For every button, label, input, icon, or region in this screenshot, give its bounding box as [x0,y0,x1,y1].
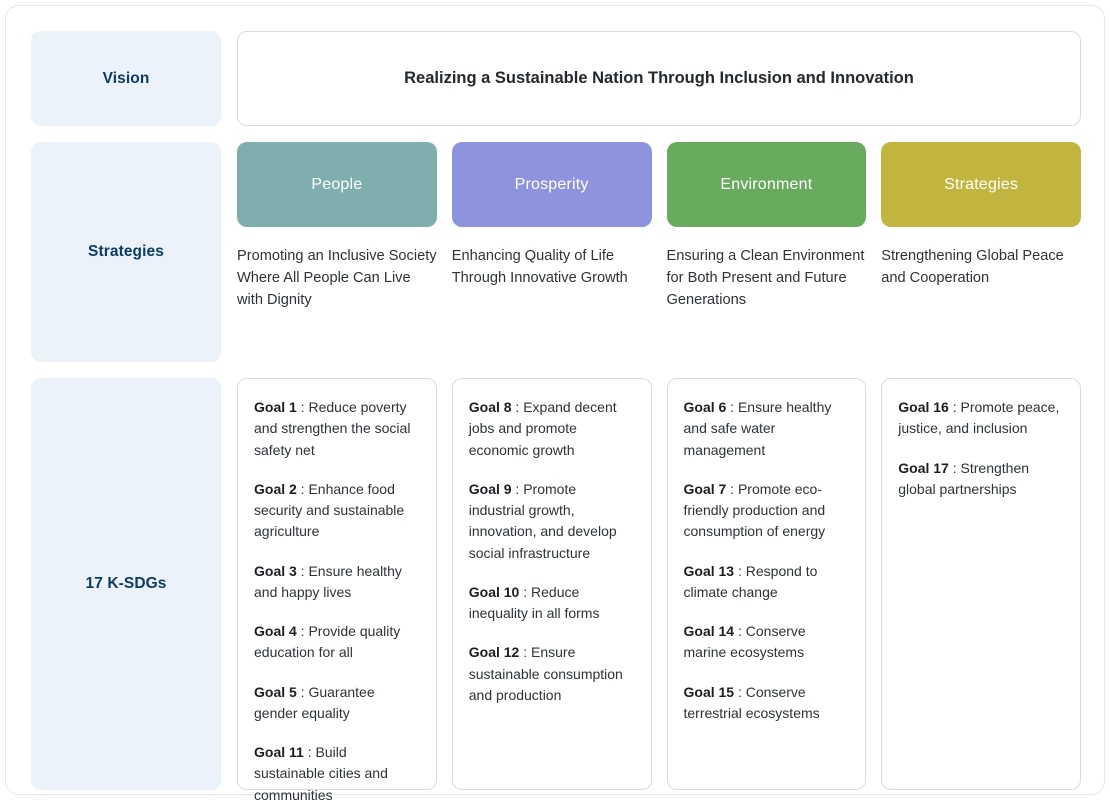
goals-row: 17 K-SDGs Goal 1 : Reduce poverty and st… [31,378,1081,790]
strategy-pill-prosperity[interactable]: Prosperity [452,142,652,227]
goal-separator: : [297,481,309,497]
goal-separator: : [297,623,309,639]
strategy-column-prosperity: Prosperity Enhancing Quality of Life Thr… [452,142,652,362]
strategies-row-body: People Promoting an Inclusive Society Wh… [237,142,1081,362]
goal-separator: : [734,563,746,579]
strategy-pill-people[interactable]: People [237,142,437,227]
goal-item: Goal 6 : Ensure healthy and safe water m… [684,397,850,461]
goal-item: Goal 14 : Conserve marine ecosystems [684,621,850,664]
goal-separator: : [297,399,309,415]
vision-statement-card: Realizing a Sustainable Nation Through I… [237,31,1081,126]
goal-separator: : [726,481,738,497]
goal-separator: : [304,744,316,760]
goal-number: Goal 6 [684,399,727,415]
goal-item: Goal 12 : Ensure sustainable consumption… [469,642,635,706]
strategy-pill-strategies[interactable]: Strategies [881,142,1081,227]
goal-item: Goal 4 : Provide quality education for a… [254,621,420,664]
goal-item: Goal 2 : Enhance food security and susta… [254,479,420,543]
goal-number: Goal 8 [469,399,512,415]
goal-item: Goal 3 : Ensure healthy and happy lives [254,561,420,604]
goal-separator: : [949,460,961,476]
goal-item: Goal 17 : Strengthen global partnerships [898,458,1064,501]
goal-card-environment: Goal 6 : Ensure healthy and safe water m… [667,378,867,790]
goal-item: Goal 15 : Conserve terrestrial ecosystem… [684,682,850,725]
goal-number: Goal 11 [254,744,304,760]
goal-number: Goal 2 [254,481,297,497]
goal-separator: : [726,399,738,415]
goal-separator: : [512,399,524,415]
vision-row: Vision Realizing a Sustainable Nation Th… [31,31,1081,126]
goal-number: Goal 13 [684,563,735,579]
goal-item: Goal 7 : Promote eco-friendly production… [684,479,850,543]
goal-columns: Goal 1 : Reduce poverty and strengthen t… [237,378,1081,790]
goal-item: Goal 10 : Reduce inequality in all forms [469,582,635,625]
goals-row-label: 17 K-SDGs [31,378,221,790]
goal-separator: : [297,684,309,700]
framework-card: Vision Realizing a Sustainable Nation Th… [5,5,1105,795]
goal-item: Goal 11 : Build sustainable cities and c… [254,742,420,806]
goals-row-body: Goal 1 : Reduce poverty and strengthen t… [237,378,1081,790]
goal-item: Goal 16 : Promote peace, justice, and in… [898,397,1064,440]
goal-number: Goal 14 [684,623,735,639]
goal-separator: : [734,684,746,700]
goal-separator: : [297,563,309,579]
strategies-row-label: Strategies [31,142,221,362]
goal-item: Goal 5 : Guarantee gender equality [254,682,420,725]
framework-grid: Vision Realizing a Sustainable Nation Th… [31,31,1081,790]
goal-number: Goal 12 [469,644,520,660]
goal-item: Goal 13 : Respond to climate change [684,561,850,604]
goal-number: Goal 17 [898,460,949,476]
vision-row-label: Vision [31,31,221,126]
goal-separator: : [734,623,746,639]
strategy-description-environment: Ensuring a Clean Environment for Both Pr… [667,245,867,312]
goal-number: Goal 5 [254,684,297,700]
goal-separator: : [512,481,524,497]
strategy-column-people: People Promoting an Inclusive Society Wh… [237,142,437,362]
strategies-row: Strategies People Promoting an Inclusive… [31,142,1081,362]
goal-number: Goal 10 [469,584,520,600]
goal-item: Goal 9 : Promote industrial growth, inno… [469,479,635,564]
strategy-column-strategies: Strategies Strengthening Global Peace an… [881,142,1081,362]
goal-card-prosperity: Goal 8 : Expand decent jobs and promote … [452,378,652,790]
strategy-description-strategies: Strengthening Global Peace and Cooperati… [881,245,1081,289]
goal-number: Goal 15 [684,684,735,700]
goal-number: Goal 1 [254,399,297,415]
goal-card-people: Goal 1 : Reduce poverty and strengthen t… [237,378,437,790]
goal-item: Goal 1 : Reduce poverty and strengthen t… [254,397,420,461]
goal-separator: : [519,644,531,660]
strategy-description-people: Promoting an Inclusive Society Where All… [237,245,437,312]
goal-card-strategies: Goal 16 : Promote peace, justice, and in… [881,378,1081,790]
goal-number: Goal 4 [254,623,297,639]
strategy-description-prosperity: Enhancing Quality of Life Through Innova… [452,245,652,289]
goal-number: Goal 16 [898,399,949,415]
vision-row-body: Realizing a Sustainable Nation Through I… [237,31,1081,126]
strategy-pill-environment[interactable]: Environment [667,142,867,227]
vision-statement-text: Realizing a Sustainable Nation Through I… [404,69,914,88]
goal-number: Goal 3 [254,563,297,579]
goal-number: Goal 7 [684,481,727,497]
strategy-columns: People Promoting an Inclusive Society Wh… [237,142,1081,362]
goal-separator: : [949,399,961,415]
goal-number: Goal 9 [469,481,512,497]
goal-item: Goal 8 : Expand decent jobs and promote … [469,397,635,461]
strategy-column-environment: Environment Ensuring a Clean Environment… [667,142,867,362]
goal-separator: : [519,584,531,600]
